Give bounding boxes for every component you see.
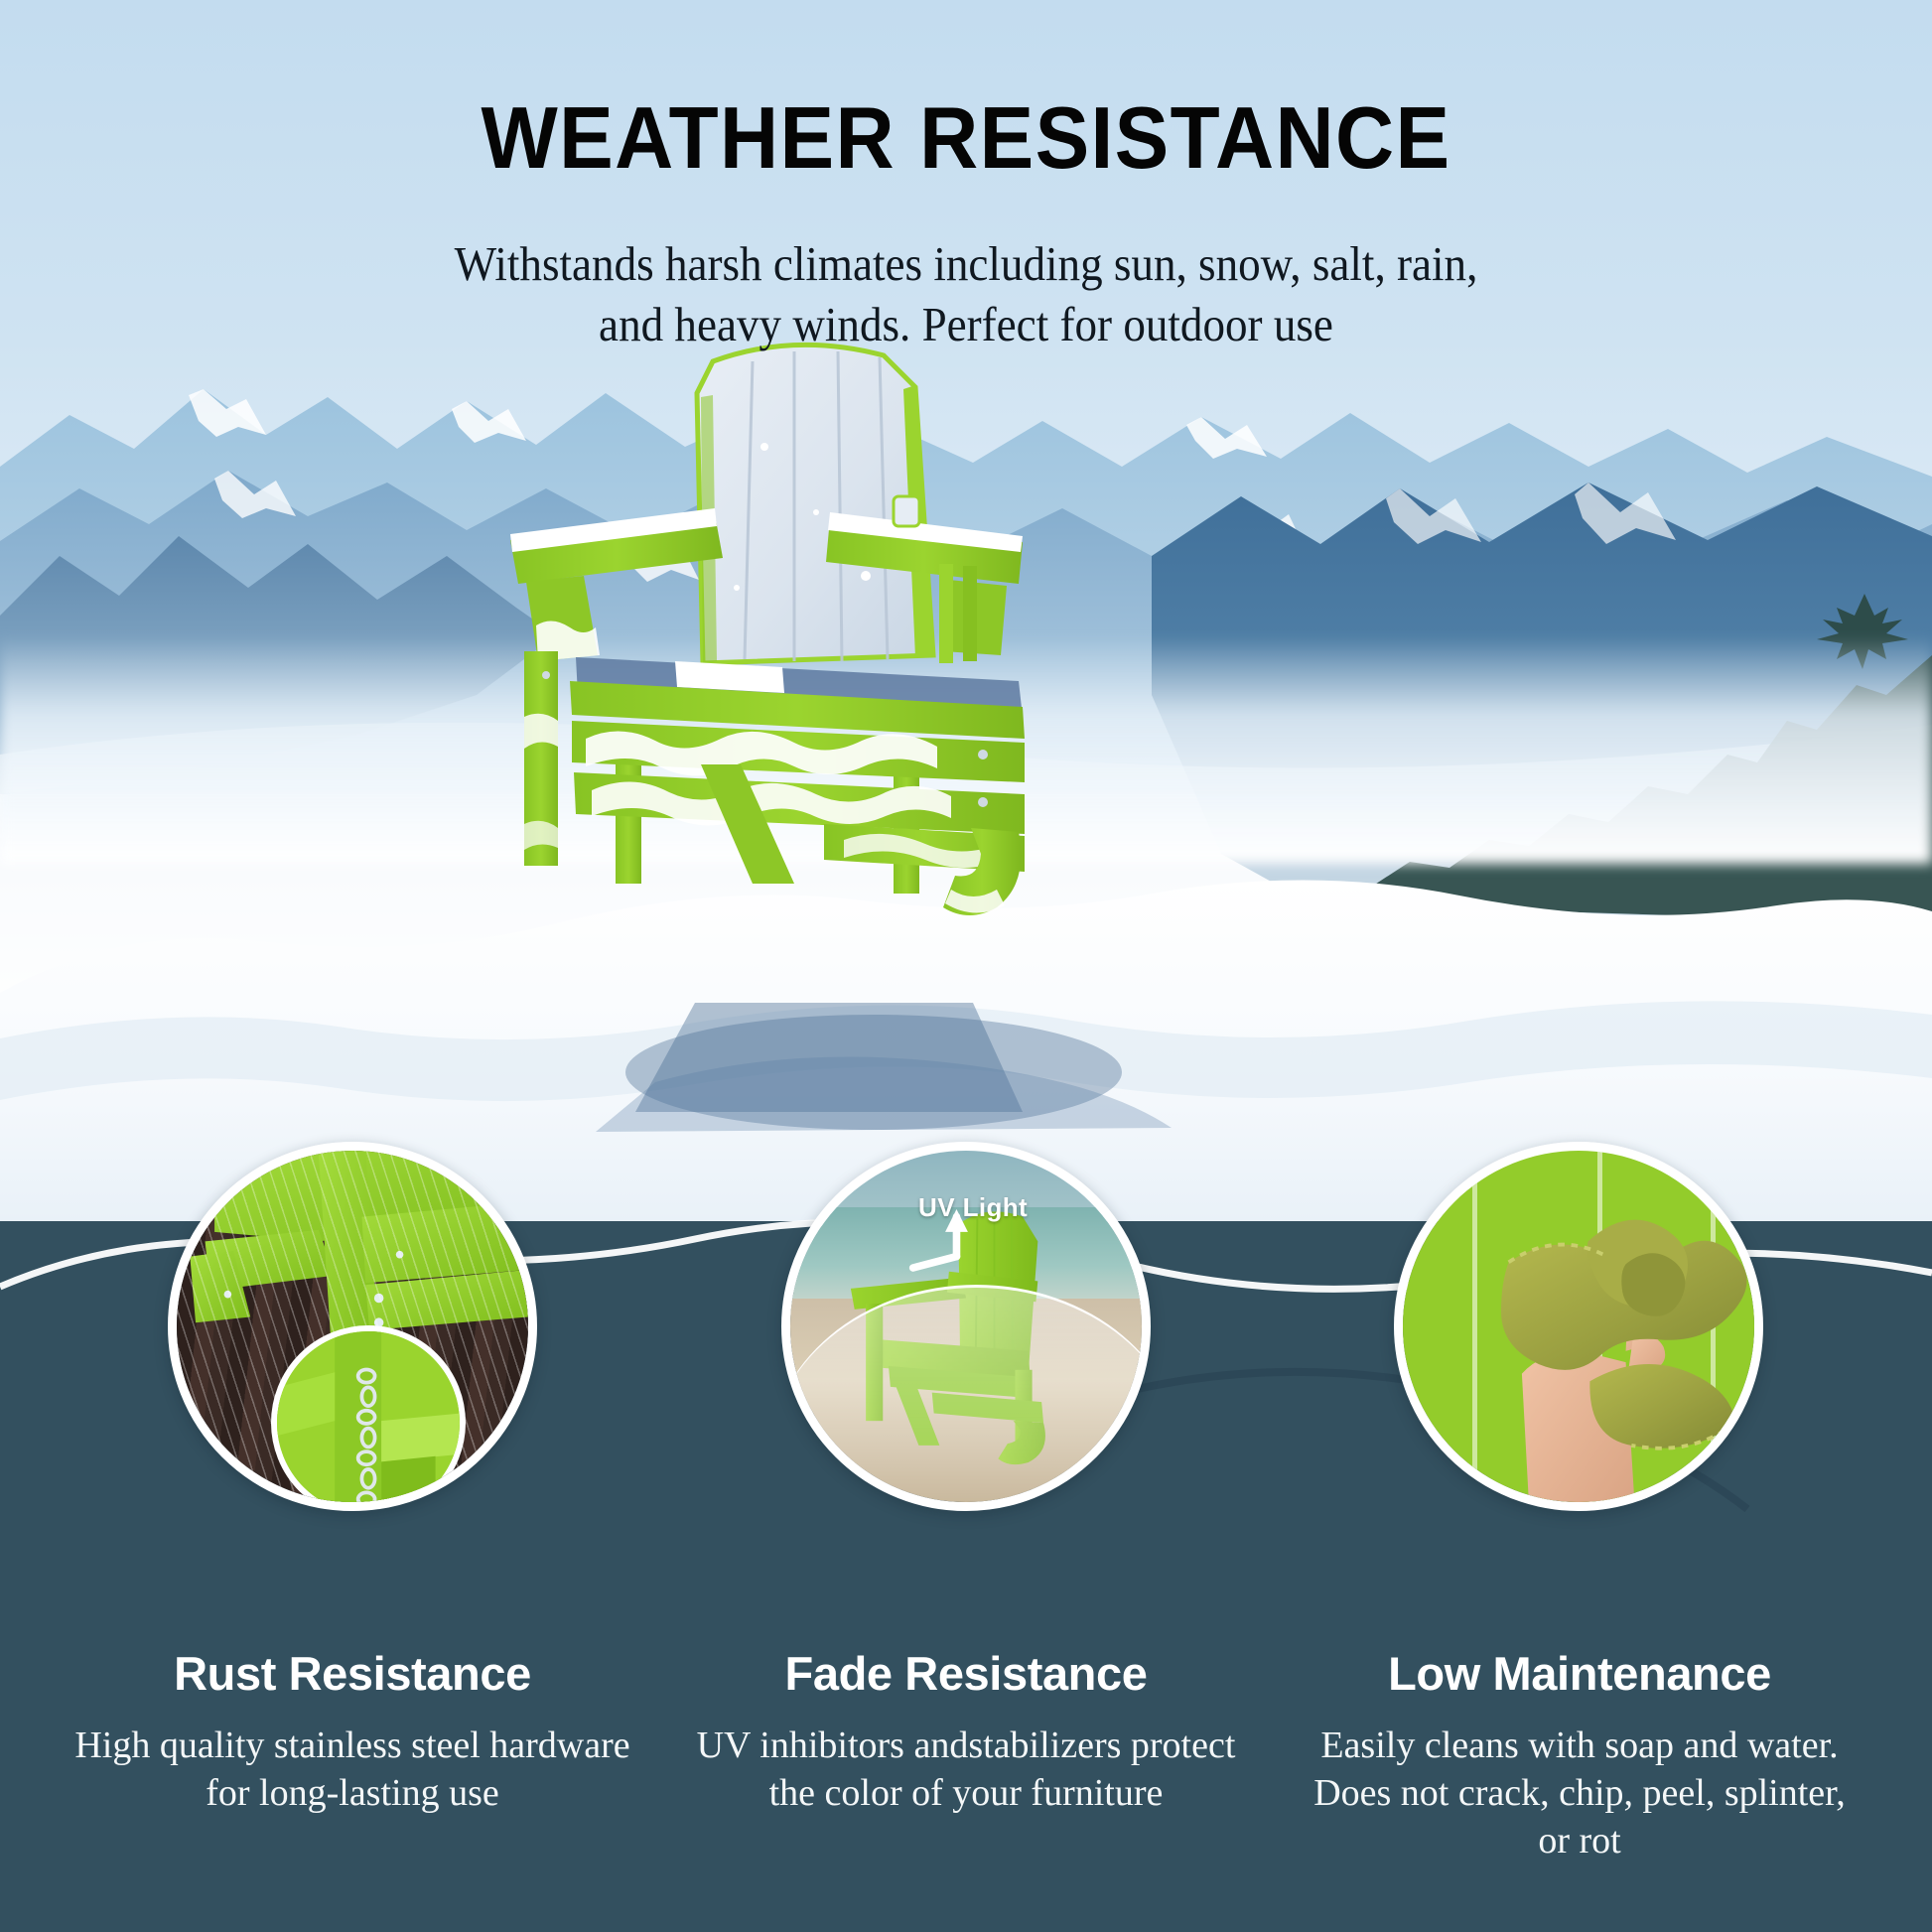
feature-title: Rust Resistance <box>74 1646 630 1701</box>
feature-image-fade-resistance: UV Light <box>781 1142 1151 1511</box>
chain-hardware-illustration <box>277 1331 460 1511</box>
feature-text-low-maintenance: Low Maintenance Easily cleans with soap … <box>1302 1646 1858 1865</box>
subtitle-line-2: and heavy winds. Perfect for outdoor use <box>77 295 1855 355</box>
feature-description: UV inhibitors andstabilizers protect the… <box>688 1723 1244 1818</box>
feature-text-fade-resistance: Fade Resistance UV inhibitors andstabili… <box>688 1646 1244 1818</box>
stainless-chain-inset-photo <box>271 1325 466 1511</box>
subtitle-line-1: Withstands harsh climates including sun,… <box>77 234 1855 295</box>
feature-text-rust-resistance: Rust Resistance High quality stainless s… <box>74 1646 630 1818</box>
infographic-canvas: WEATHER RESISTANCE Withstands harsh clim… <box>0 0 1932 1932</box>
adirondack-chair-snow-covered <box>467 328 1082 923</box>
feature-description: High quality stainless steel hardware fo… <box>74 1723 630 1818</box>
feature-title: Low Maintenance <box>1302 1646 1858 1701</box>
uv-light-label: UV Light <box>918 1192 1028 1223</box>
feature-image-low-maintenance <box>1394 1142 1763 1511</box>
hand-with-cloth-illustration <box>1403 1151 1754 1502</box>
page-subtitle: Withstands harsh climates including sun,… <box>77 234 1855 355</box>
feature-title: Fade Resistance <box>688 1646 1244 1701</box>
page-title: WEATHER RESISTANCE <box>68 87 1864 189</box>
feature-image-rust-resistance <box>168 1142 537 1511</box>
feature-description: Easily cleans with soap and water. Does … <box>1302 1723 1858 1865</box>
